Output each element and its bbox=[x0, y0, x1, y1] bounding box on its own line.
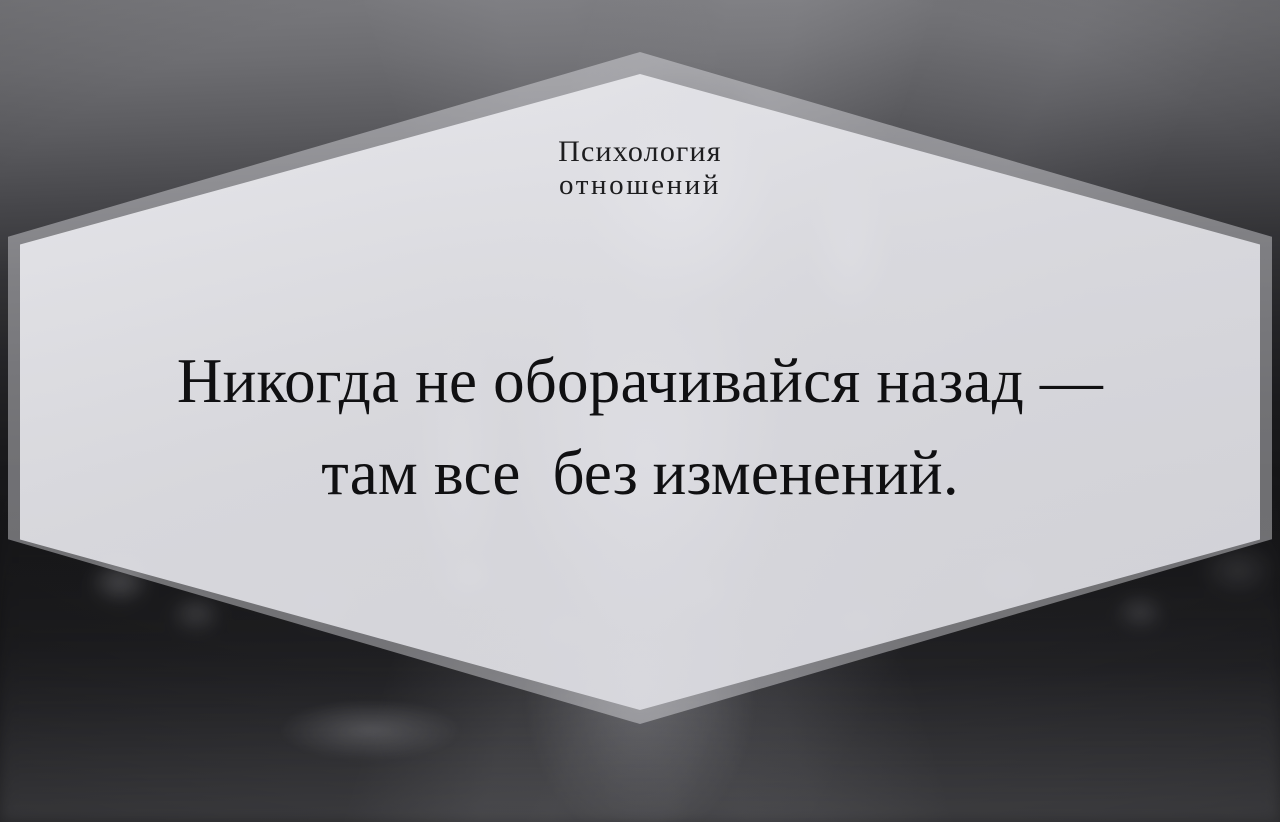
quote-card: Психология отношений Никогда не оборачив… bbox=[0, 0, 1280, 822]
quote-line-2-part-b: без bbox=[552, 438, 637, 508]
brand-title-line-1: Психология bbox=[0, 136, 1280, 168]
quote-line-2: там все без изменений. bbox=[0, 428, 1280, 520]
quote-line-1: Никогда не оборачивайся назад — bbox=[0, 336, 1280, 428]
brand-title: Психология отношений bbox=[0, 136, 1280, 201]
quote-line-2-part-a: там все bbox=[321, 438, 520, 508]
quote-text: Никогда не оборачивайся назад — там все … bbox=[0, 336, 1280, 520]
brand-title-line-2: отношений bbox=[0, 170, 1280, 201]
quote-line-2-part-c: изменений. bbox=[653, 438, 959, 508]
